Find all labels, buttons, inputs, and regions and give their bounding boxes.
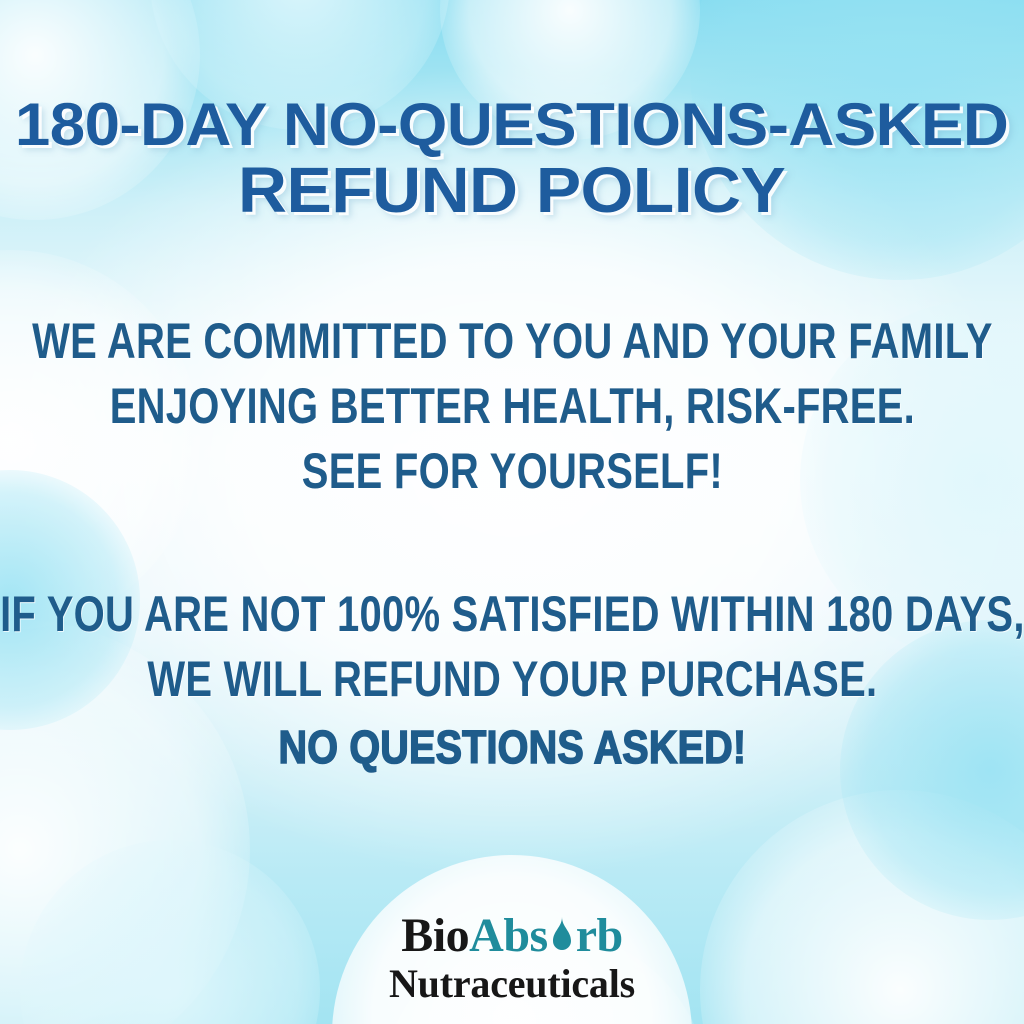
body-line: WE ARE COMMITTED TO YOU AND YOUR FAMILY <box>0 309 1024 374</box>
brand-tagline: Nutraceuticals <box>0 964 1024 1004</box>
headline-line-2: REFUND POLICY <box>15 160 1008 221</box>
paragraph-commitment: WE ARE COMMITTED TO YOU AND YOUR FAMILY … <box>0 309 1024 504</box>
body-line: WE WILL REFUND YOUR PURCHASE. <box>0 647 1024 712</box>
page-title: 180-DAY NO-QUESTIONS-ASKED REFUND POLICY <box>43 96 980 221</box>
poster-content: 180-DAY NO-QUESTIONS-ASKED REFUND POLICY… <box>0 0 1024 1024</box>
policy-body: WE ARE COMMITTED TO YOU AND YOUR FAMILY … <box>0 309 1024 778</box>
paragraph-guarantee: IF YOU ARE NOT 100% SATISFIED WITHIN 180… <box>0 582 1024 778</box>
brand-abs: Abs <box>469 909 548 962</box>
body-line: IF YOU ARE NOT 100% SATISFIED WITHIN 180… <box>0 582 1024 647</box>
emphasis-line: NO QUESTIONS ASKED! <box>0 718 1024 778</box>
body-line: SEE FOR YOURSELF! <box>0 439 1024 504</box>
water-drop-icon <box>549 917 575 957</box>
brand-bio: Bio <box>401 909 469 962</box>
brand-wordmark: BioAbsrb <box>0 912 1024 960</box>
headline-line-1: 180-DAY NO-QUESTIONS-ASKED <box>15 96 1008 154</box>
refund-policy-poster: 180-DAY NO-QUESTIONS-ASKED REFUND POLICY… <box>0 0 1024 1024</box>
brand-rb: rb <box>576 909 623 962</box>
brand-logo: BioAbsrb Nutraceuticals <box>0 912 1024 1004</box>
body-line: ENJOYING BETTER HEALTH, RISK-FREE. <box>0 374 1024 439</box>
